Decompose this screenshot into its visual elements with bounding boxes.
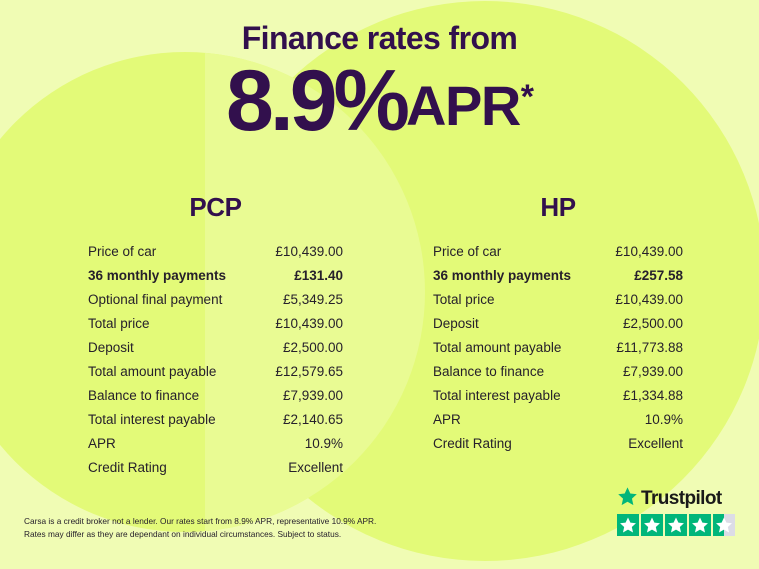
table-row: Deposit£2,500.00 (88, 340, 343, 364)
row-value: £11,773.88 (616, 340, 683, 355)
table-row: APR10.9% (433, 412, 683, 436)
trustpilot-widget[interactable]: Trustpilot (617, 488, 739, 536)
table-row: Total amount payable£11,773.88 (433, 340, 683, 364)
trustpilot-name: Trustpilot (641, 488, 722, 510)
disclaimer: Carsa is a credit broker not a lender. O… (24, 515, 454, 541)
trustpilot-logo: Trustpilot (617, 488, 739, 510)
rate-unit: APR (406, 74, 520, 137)
row-label: Deposit (433, 316, 479, 331)
table-row: Credit RatingExcellent (433, 436, 683, 460)
table-row: Balance to finance£7,939.00 (88, 388, 343, 412)
row-value: £257.58 (634, 268, 683, 283)
row-label: Price of car (88, 244, 156, 259)
row-value: £2,500.00 (623, 316, 683, 331)
table-row: Total amount payable£12,579.65 (88, 364, 343, 388)
table-row: Deposit£2,500.00 (433, 316, 683, 340)
table-rows-pcp: Price of car£10,439.0036 monthly payment… (88, 244, 343, 484)
row-value: £131.40 (294, 268, 343, 283)
row-label: Total interest payable (88, 412, 216, 427)
headline-rate: 8.9%APR* (0, 58, 759, 144)
table-row: 36 monthly payments£131.40 (88, 268, 343, 292)
row-value: 10.9% (305, 436, 343, 451)
table-row: Price of car£10,439.00 (88, 244, 343, 268)
table-row: Balance to finance£7,939.00 (433, 364, 683, 388)
row-value: £12,579.65 (275, 364, 343, 379)
row-value: £10,439.00 (275, 244, 343, 259)
row-label: 36 monthly payments (88, 268, 226, 283)
row-value: £2,140.65 (283, 412, 343, 427)
trustpilot-full-star-icon (665, 514, 687, 536)
table-row: Total price£10,439.00 (88, 316, 343, 340)
table-row: Price of car£10,439.00 (433, 244, 683, 268)
poster-content: Finance rates from 8.9%APR* PCP Price of… (0, 0, 759, 569)
row-label: Balance to finance (88, 388, 199, 403)
row-value: £5,349.25 (283, 292, 343, 307)
table-title-hp: HP (433, 192, 683, 223)
table-row: Credit RatingExcellent (88, 460, 343, 484)
row-label: Price of car (433, 244, 501, 259)
table-row: Optional final payment£5,349.25 (88, 292, 343, 316)
row-value: 10.9% (645, 412, 683, 427)
table-row: Total interest payable£1,334.88 (433, 388, 683, 412)
row-label: APR (88, 436, 116, 451)
asterisk-marker: * (521, 78, 534, 116)
disclaimer-line-2: Rates may differ as they are dependant o… (24, 528, 454, 541)
row-label: Credit Rating (433, 436, 512, 451)
trustpilot-full-star-icon (641, 514, 663, 536)
row-label: Total amount payable (433, 340, 561, 355)
row-label: 36 monthly payments (433, 268, 571, 283)
finance-rates-poster: Finance rates from 8.9%APR* PCP Price of… (0, 0, 759, 569)
trustpilot-half-star-icon (713, 514, 735, 536)
row-label: Total interest payable (433, 388, 561, 403)
row-label: Credit Rating (88, 460, 167, 475)
row-value: £7,939.00 (623, 364, 683, 379)
row-value: £10,439.00 (615, 244, 683, 259)
row-label: Total price (433, 292, 495, 307)
row-value: £2,500.00 (283, 340, 343, 355)
trustpilot-full-star-icon (689, 514, 711, 536)
finance-table-pcp: PCP Price of car£10,439.0036 monthly pay… (88, 192, 343, 484)
table-title-pcp: PCP (88, 192, 343, 223)
row-value: £10,439.00 (615, 292, 683, 307)
table-row: 36 monthly payments£257.58 (433, 268, 683, 292)
table-row: Total interest payable£2,140.65 (88, 412, 343, 436)
page-title: Finance rates from (0, 20, 759, 57)
disclaimer-line-1: Carsa is a credit broker not a lender. O… (24, 515, 454, 528)
rate-number: 8.9% (226, 53, 406, 149)
row-label: APR (433, 412, 461, 427)
trustpilot-rating-stars (617, 514, 739, 536)
row-label: Optional final payment (88, 292, 222, 307)
row-value: £10,439.00 (275, 316, 343, 331)
row-label: Total amount payable (88, 364, 216, 379)
trustpilot-full-star-icon (617, 514, 639, 536)
row-value: Excellent (628, 436, 683, 451)
row-label: Balance to finance (433, 364, 544, 379)
table-row: APR10.9% (88, 436, 343, 460)
trustpilot-star-icon (617, 486, 638, 512)
table-rows-hp: Price of car£10,439.0036 monthly payment… (433, 244, 683, 460)
table-row: Total price£10,439.00 (433, 292, 683, 316)
finance-table-hp: HP Price of car£10,439.0036 monthly paym… (433, 192, 683, 460)
row-label: Total price (88, 316, 150, 331)
row-label: Deposit (88, 340, 134, 355)
row-value: Excellent (288, 460, 343, 475)
row-value: £7,939.00 (283, 388, 343, 403)
row-value: £1,334.88 (623, 388, 683, 403)
